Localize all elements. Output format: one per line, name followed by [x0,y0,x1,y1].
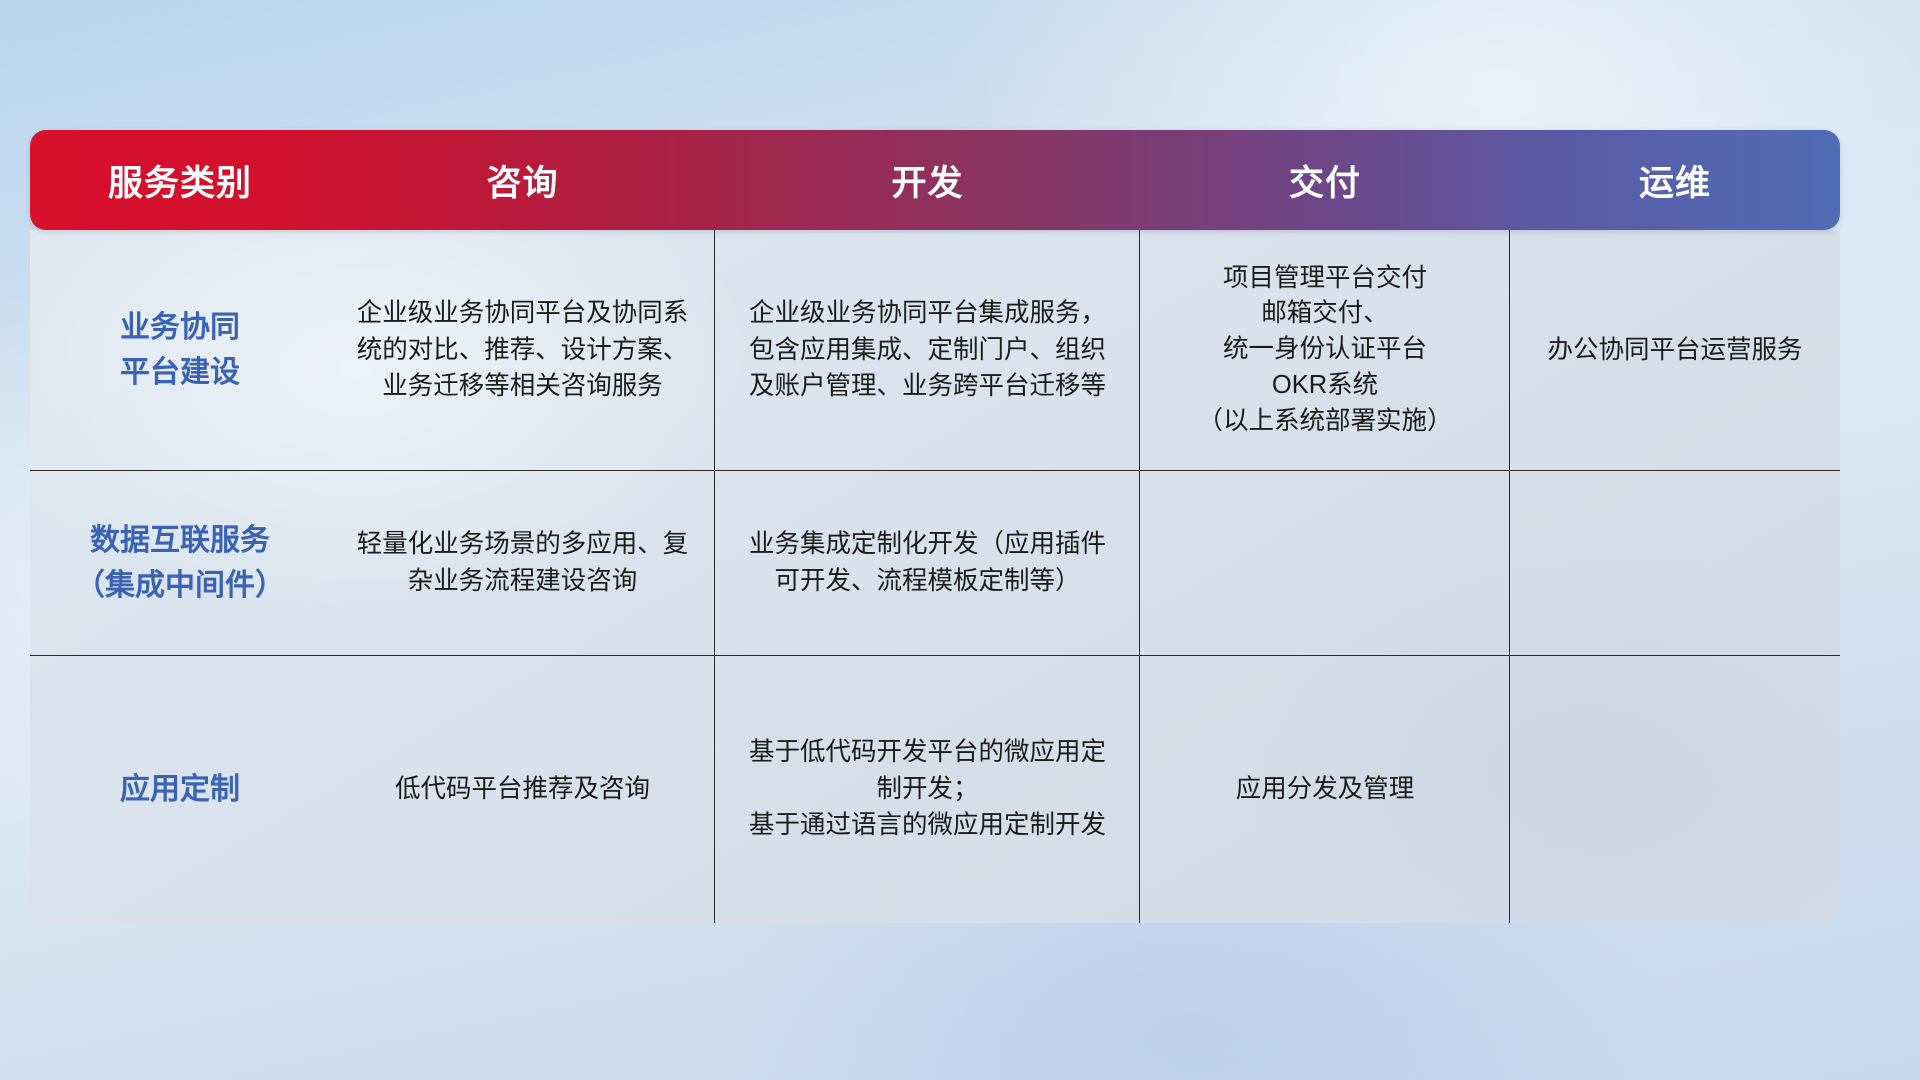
service-matrix-table: 服务类别 咨询 开发 交付 运维 业务协同 平台建设 企业级业务协同平台及协同系… [30,130,1840,923]
table-header-operations: 运维 [1510,155,1840,206]
row-development-cell: 企业级业务协同平台集成服务， 包含应用集成、定制门户、组织 及账户管理、业务跨平… [715,230,1140,470]
row-operations-cell: 办公协同平台运营服务 [1510,230,1840,470]
table-header-delivery: 交付 [1140,155,1510,206]
row-operations-cell [1510,470,1840,655]
row-consulting-text: 低代码平台推荐及咨询 [395,771,650,808]
table-header-consulting: 咨询 [330,155,715,206]
row-category-cell: 数据互联服务 （集成中间件） [30,470,330,655]
table-body: 业务协同 平台建设 企业级业务协同平台及协同系 统的对比、推荐、设计方案、 业务… [30,230,1840,923]
table-row: 业务协同 平台建设 企业级业务协同平台及协同系 统的对比、推荐、设计方案、 业务… [30,230,1840,470]
row-category-label: 应用定制 [120,767,240,812]
table-header-row: 服务类别 咨询 开发 交付 运维 [30,130,1840,230]
row-category-label: 业务协同 平台建设 [120,305,240,395]
row-delivery-text: 项目管理平台交付 邮箱交付、 统一身份认证平台 OKR系统 （以上系统部署实施） [1197,261,1452,439]
row-consulting-cell: 轻量化业务场景的多应用、复 杂业务流程建设咨询 [330,470,715,655]
row-development-text: 基于低代码开发平台的微应用定 制开发； 基于通过语言的微应用定制开发 [749,734,1106,844]
row-category-label: 数据互联服务 （集成中间件） [75,518,285,608]
row-development-cell: 基于低代码开发平台的微应用定 制开发； 基于通过语言的微应用定制开发 [715,655,1140,923]
table-header-development: 开发 [715,155,1140,206]
table-row: 数据互联服务 （集成中间件） 轻量化业务场景的多应用、复 杂业务流程建设咨询 业… [30,470,1840,655]
table-header-service-category: 服务类别 [30,155,330,206]
row-consulting-cell: 低代码平台推荐及咨询 [330,655,715,923]
row-category-cell: 应用定制 [30,655,330,923]
row-delivery-text: 应用分发及管理 [1236,771,1415,808]
table-row: 应用定制 低代码平台推荐及咨询 基于低代码开发平台的微应用定 制开发； 基于通过… [30,655,1840,923]
row-consulting-text: 轻量化业务场景的多应用、复 杂业务流程建设咨询 [357,526,689,599]
row-category-cell: 业务协同 平台建设 [30,230,330,470]
row-development-text: 业务集成定制化开发（应用插件 可开发、流程模板定制等） [749,526,1106,599]
row-delivery-cell: 应用分发及管理 [1140,655,1510,923]
row-operations-text: 办公协同平台运营服务 [1547,332,1802,369]
row-consulting-cell: 企业级业务协同平台及协同系 统的对比、推荐、设计方案、 业务迁移等相关咨询服务 [330,230,715,470]
row-consulting-text: 企业级业务协同平台及协同系 统的对比、推荐、设计方案、 业务迁移等相关咨询服务 [357,295,689,405]
row-development-cell: 业务集成定制化开发（应用插件 可开发、流程模板定制等） [715,470,1140,655]
row-delivery-cell [1140,470,1510,655]
row-operations-cell [1510,655,1840,923]
row-delivery-cell: 项目管理平台交付 邮箱交付、 统一身份认证平台 OKR系统 （以上系统部署实施） [1140,230,1510,470]
row-development-text: 企业级业务协同平台集成服务， 包含应用集成、定制门户、组织 及账户管理、业务跨平… [749,295,1106,405]
